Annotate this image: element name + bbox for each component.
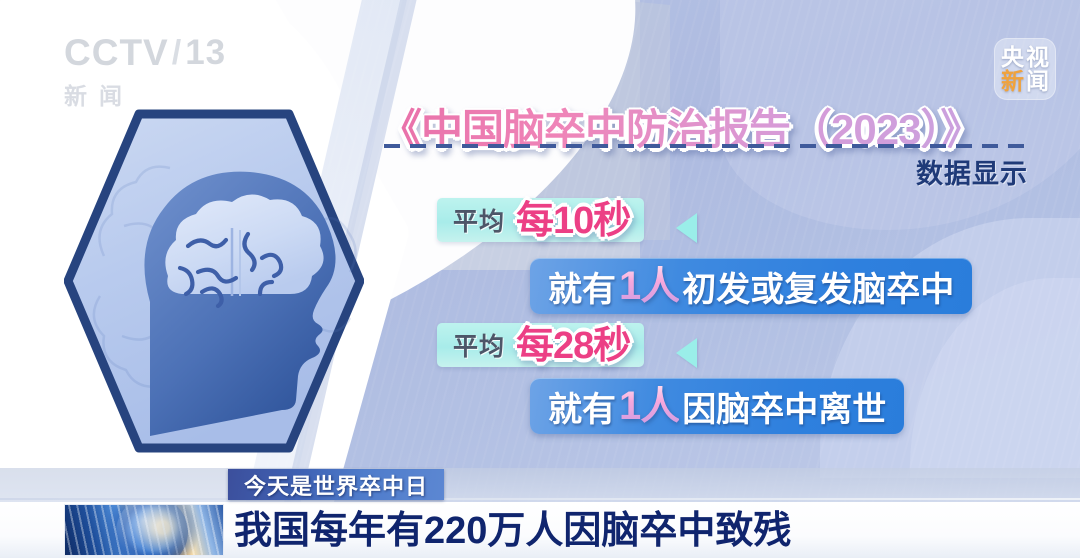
logo-char-xin: 新 [1001, 70, 1024, 93]
cctv13-watermark: CCTV / 13 新闻 [64, 34, 214, 116]
cctv-news-logo: 央 视 新 闻 [994, 38, 1056, 100]
watermark-separator: / [172, 36, 182, 70]
title-underline-dashed [384, 144, 1028, 148]
lower-third-headline: 我国每年有220万人因脑卒中致残 [234, 499, 791, 554]
stat-row-2-result: 就有 1人 因脑卒中离世 [530, 378, 904, 434]
interval-value-1: 每10秒 [516, 202, 630, 240]
result-suffix-1: 初发或复发脑卒中 [682, 262, 954, 311]
stat-row-1-interval: 平均 每10秒 [437, 198, 644, 242]
report-subtitle: 数据显示 [916, 152, 1028, 191]
lower-third-kicker-banner: 今天是世界卒中日 [228, 469, 444, 500]
result-count-2: 1人 [619, 386, 679, 426]
interval-value-2: 每28秒 [516, 327, 630, 365]
pointer-triangle-1 [676, 213, 697, 243]
result-prefix-2: 就有 [548, 382, 616, 431]
head-brain-hexagon-illustration [64, 106, 364, 456]
interval-prefix-label-2: 平均 [453, 327, 505, 363]
broadcast-screenshot: CCTV / 13 新闻 央 视 新 闻 [0, 0, 1080, 558]
result-suffix-2: 因脑卒中离世 [682, 382, 886, 431]
kicker-text: 今天是世界卒中日 [244, 469, 428, 501]
logo-line-2: 新 闻 [1001, 70, 1049, 93]
brain-head-icon [64, 106, 364, 456]
logo-line-1: 央 视 [1001, 46, 1049, 69]
watermark-top-row: CCTV / 13 [64, 34, 214, 71]
logo-char-shi: 视 [1026, 46, 1049, 69]
stat-row-1-result: 就有 1人 初发或复发脑卒中 [530, 258, 972, 314]
result-count-1: 1人 [619, 266, 679, 306]
interval-pill-2: 平均 每28秒 [437, 323, 644, 367]
logo-char-yang: 央 [1001, 46, 1024, 69]
report-title: 《中国脑卒中防治报告（2023）》 [380, 96, 1030, 148]
watermark-network: CCTV [64, 34, 169, 71]
logo-char-wen: 闻 [1026, 70, 1049, 93]
watermark-channel-number: 13 [185, 35, 226, 70]
interval-prefix-label-1: 平均 [453, 202, 505, 238]
globe-graphic [64, 504, 224, 556]
lower-third-bar: 今天是世界卒中日 我国每年有220万人因脑卒中致残 [0, 466, 1080, 558]
pointer-triangle-2 [676, 338, 697, 368]
result-prefix-1: 就有 [548, 262, 616, 311]
lower-third-upper-strip [0, 468, 1080, 502]
interval-pill-1: 平均 每10秒 [437, 198, 644, 242]
stat-row-2-interval: 平均 每28秒 [437, 323, 644, 367]
